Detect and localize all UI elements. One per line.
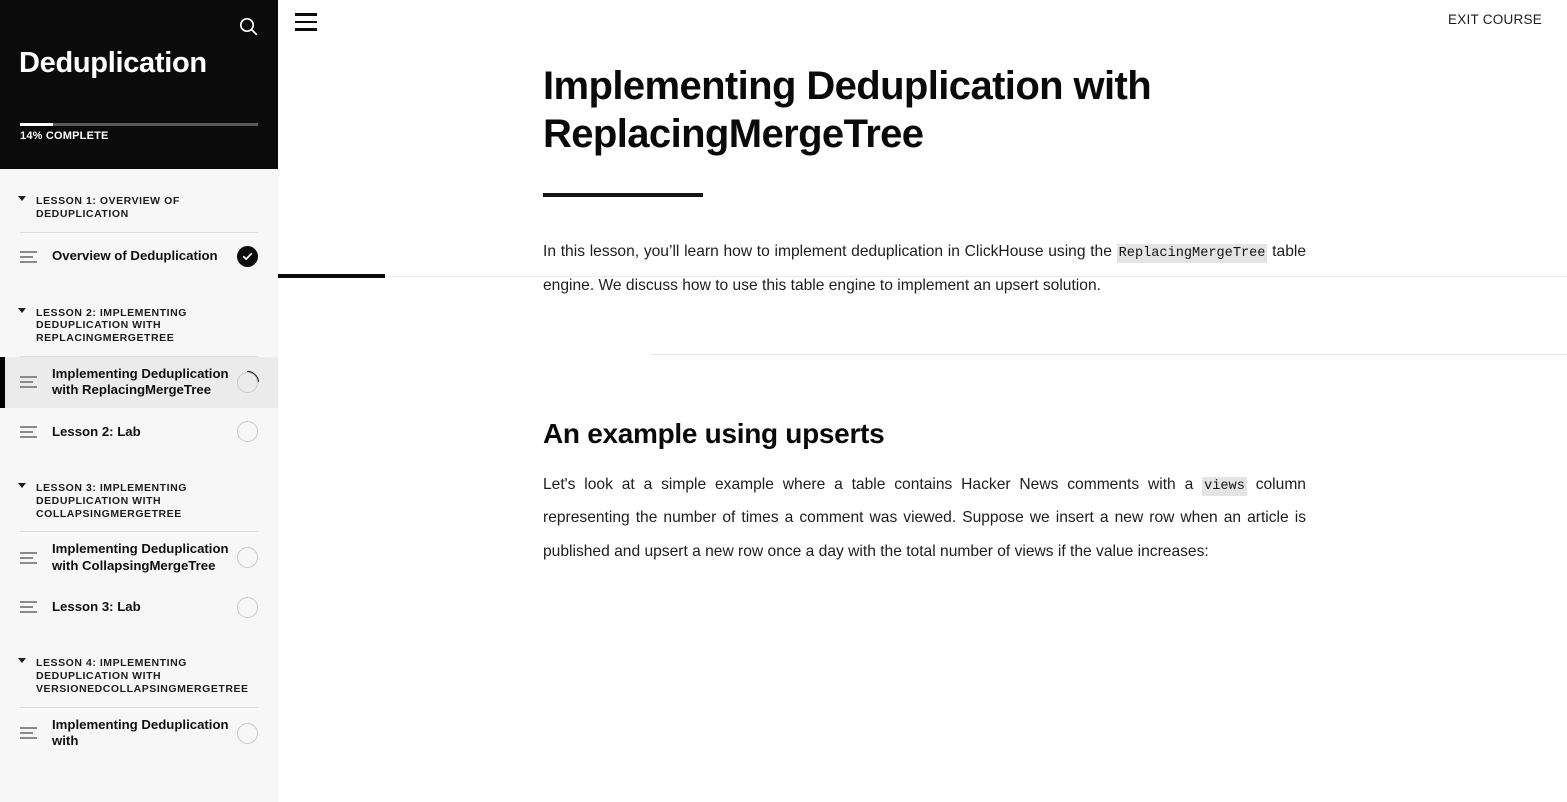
chevron-down-icon	[18, 658, 26, 663]
lesson-lines-icon	[20, 251, 40, 263]
section-paragraph: Let's look at a simple example where a t…	[543, 468, 1306, 569]
section-text-part1: Let's look at a simple example where a t…	[543, 476, 1202, 493]
lesson-list-item[interactable]: Lesson 3: Lab	[0, 583, 278, 631]
lesson-list-item[interactable]: Implementing Deduplication with Replacin…	[0, 357, 278, 408]
section-divider	[651, 354, 1567, 355]
exit-course-button[interactable]: EXIT COURSE	[1448, 12, 1542, 27]
chevron-down-icon	[18, 196, 26, 201]
lesson-item-label: Lesson 2: Lab	[52, 424, 237, 441]
lesson-lines-icon	[20, 601, 40, 613]
lesson-group-header-4[interactable]: LESSON 4: IMPLEMENTING DEDUPLICATION WIT…	[0, 631, 278, 695]
course-title: Deduplication	[19, 48, 207, 80]
intro-paragraph: In this lesson, you’ll learn how to impl…	[543, 235, 1306, 303]
lesson-lines-icon	[20, 426, 40, 438]
inline-code-views: views	[1202, 477, 1247, 496]
lesson-list-item[interactable]: Lesson 2: Lab	[0, 408, 278, 456]
hamburger-bar	[295, 13, 317, 16]
lesson-list-item[interactable]: Overview of Deduplication	[0, 233, 278, 281]
checkmark-icon[interactable]	[237, 246, 258, 267]
lesson-content-area: EXIT COURSE Implementing Deduplication w…	[278, 0, 1567, 802]
lesson-group-label: LESSON 4: IMPLEMENTING DEDUPLICATION WIT…	[22, 657, 256, 695]
lesson-lines-icon	[20, 376, 40, 388]
lesson-group-header-2[interactable]: LESSON 2: IMPLEMENTING DEDUPLICATION WIT…	[0, 281, 278, 345]
lesson-item-label: Overview of Deduplication	[52, 248, 237, 265]
incomplete-circle-icon[interactable]	[237, 421, 258, 442]
lesson-group-label: LESSON 1: OVERVIEW OF DEDUPLICATION	[22, 195, 256, 221]
sidebar-progress-bar	[20, 123, 258, 126]
lesson-list-item[interactable]: Implementing Deduplication with	[0, 708, 278, 759]
sidebar-progress-label: 14% COMPLETE	[20, 130, 109, 142]
lesson-group-label: LESSON 2: IMPLEMENTING DEDUPLICATION WIT…	[22, 307, 256, 345]
intro-text-part1: In this lesson, you’ll learn how to impl…	[543, 243, 1117, 260]
hamburger-menu-icon[interactable]	[295, 11, 319, 33]
lesson-group-header-3[interactable]: LESSON 3: IMPLEMENTING DEDUPLICATION WIT…	[0, 456, 278, 520]
lesson-list[interactable]: LESSON 1: OVERVIEW OF DEDUPLICATIONOverv…	[0, 169, 278, 802]
lesson-group-header-1[interactable]: LESSON 1: OVERVIEW OF DEDUPLICATION	[0, 169, 278, 221]
chevron-down-icon	[18, 483, 26, 488]
chevron-down-icon	[18, 308, 26, 313]
hamburger-bar	[295, 21, 317, 24]
in-progress-circle-icon[interactable]	[237, 372, 258, 393]
section-heading: An example using upserts	[543, 418, 1567, 450]
incomplete-circle-icon[interactable]	[237, 723, 258, 744]
inline-code-replacingmergetree: ReplacingMergeTree	[1117, 244, 1268, 263]
search-icon[interactable]	[234, 12, 262, 40]
lesson-item-label: Implementing Deduplication with Replacin…	[52, 366, 237, 399]
lesson-item-label: Implementing Deduplication with	[52, 717, 237, 750]
incomplete-circle-icon[interactable]	[237, 547, 258, 568]
hamburger-bar	[295, 28, 317, 31]
page-title: Implementing Deduplication with Replacin…	[543, 62, 1243, 158]
course-sidebar: Deduplication 14% COMPLETE LESSON 1: OVE…	[0, 0, 278, 802]
incomplete-circle-icon[interactable]	[237, 597, 258, 618]
lesson-title-block: Implementing Deduplication with Replacin…	[278, 48, 1567, 197]
top-bar: EXIT COURSE	[278, 0, 1567, 48]
lesson-group-label: LESSON 3: IMPLEMENTING DEDUPLICATION WIT…	[22, 482, 256, 520]
lesson-body: In this lesson, you’ll learn how to impl…	[278, 235, 1567, 569]
title-underline-rule	[543, 193, 703, 197]
lesson-item-label: Lesson 3: Lab	[52, 599, 237, 616]
sidebar-header: Deduplication 14% COMPLETE	[0, 0, 278, 169]
lesson-lines-icon	[20, 727, 40, 739]
lesson-list-item[interactable]: Implementing Deduplication with Collapsi…	[0, 532, 278, 583]
sidebar-progress-fill	[20, 123, 53, 126]
course-player: Deduplication 14% COMPLETE LESSON 1: OVE…	[0, 0, 1567, 802]
lesson-item-label: Implementing Deduplication with Collapsi…	[52, 541, 237, 574]
lesson-lines-icon	[20, 552, 40, 564]
